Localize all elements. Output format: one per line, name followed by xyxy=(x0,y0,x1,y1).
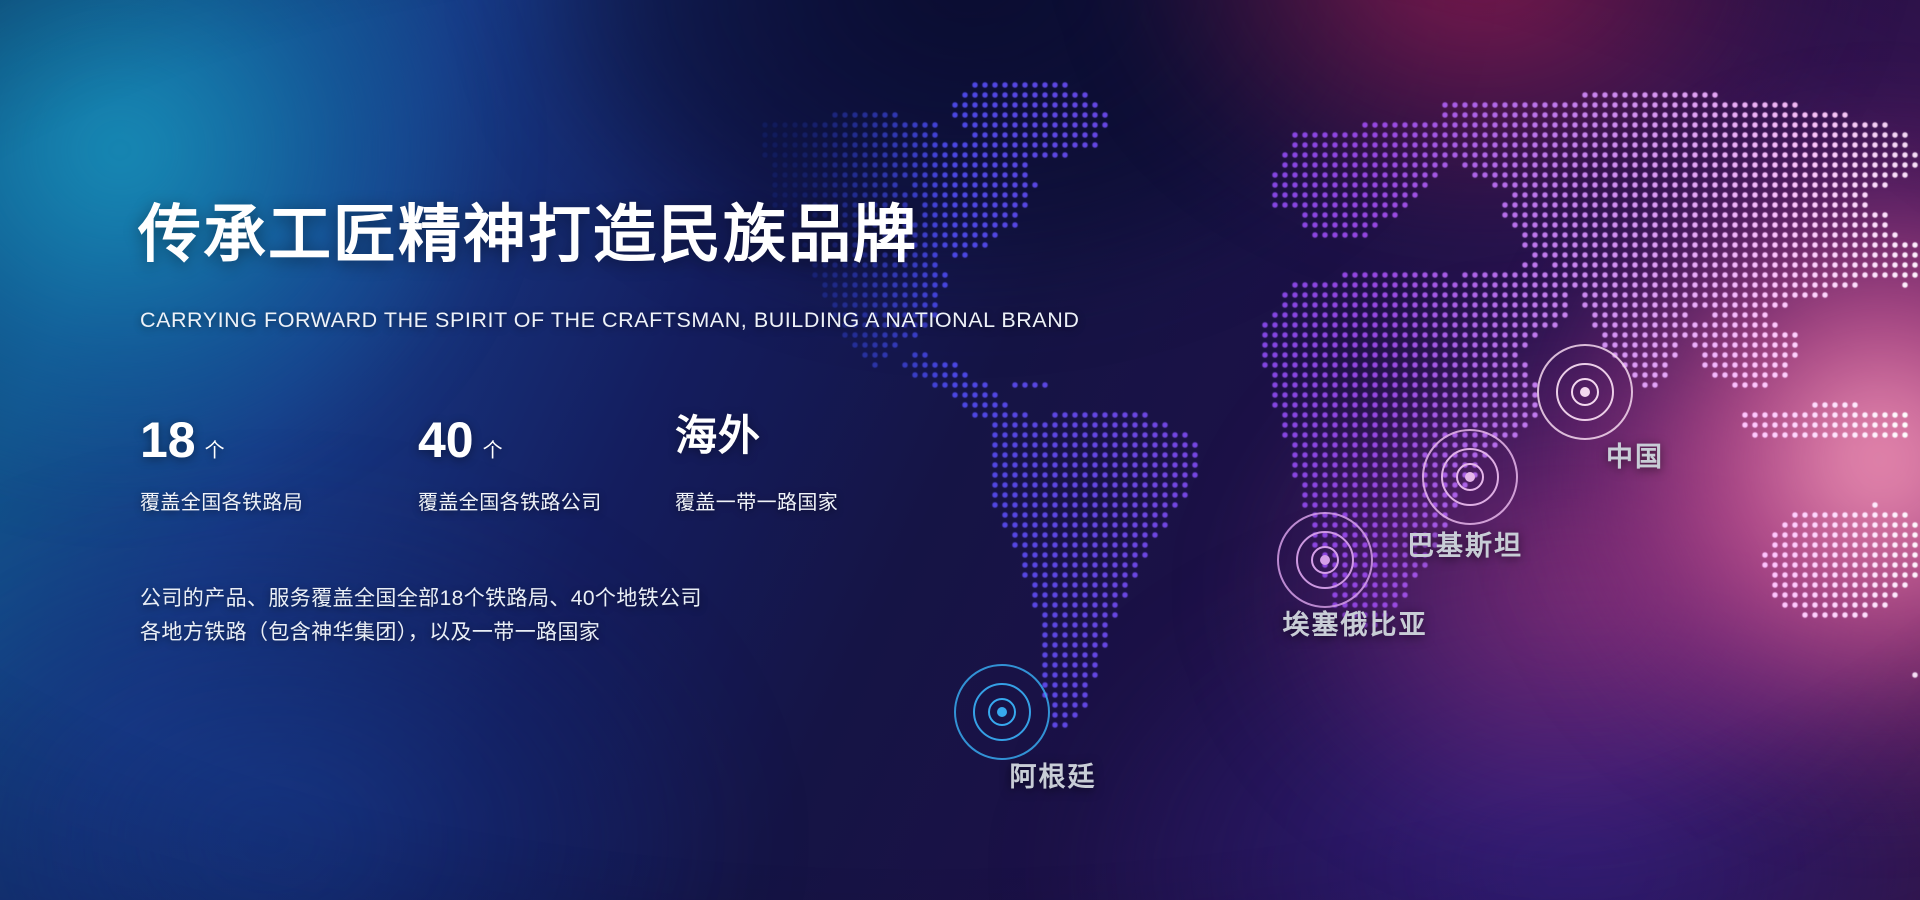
content-block: 传承工匠精神打造民族品牌 CARRYING FORWARD THE SPIRIT… xyxy=(138,0,1018,900)
stat-item: 海外覆盖一带一路国家 xyxy=(675,415,838,515)
banner-stage: 中国巴基斯坦埃塞俄比亚阿根廷 传承工匠精神打造民族品牌 CARRYING FOR… xyxy=(0,0,1920,900)
description-line-1: 公司的产品、服务覆盖全国全部18个铁路局、40个地铁公司 xyxy=(140,582,702,616)
stat-unit: 个 xyxy=(205,434,225,463)
stat-value: 海外 xyxy=(675,415,761,457)
stat-item: 18个覆盖全国各铁路局 xyxy=(140,415,303,515)
stat-description: 覆盖全国各铁路公司 xyxy=(418,486,602,515)
stat-value: 40 xyxy=(418,415,474,465)
stat-value-row: 40个 xyxy=(418,415,602,473)
stats-group: 18个覆盖全国各铁路局40个覆盖全国各铁路公司海外覆盖一带一路国家 xyxy=(140,415,860,510)
description-line-2: 各地方铁路（包含神华集团），以及一带一路国家 xyxy=(140,616,702,650)
description-text: 公司的产品、服务覆盖全国全部18个铁路局、40个地铁公司 各地方铁路（包含神华集… xyxy=(140,582,702,650)
stat-value: 18 xyxy=(140,415,196,465)
page-subtitle: CARRYING FORWARD THE SPIRIT OF THE CRAFT… xyxy=(140,308,1079,333)
stat-description: 覆盖一带一路国家 xyxy=(675,486,838,515)
stat-value-row: 18个 xyxy=(140,415,303,473)
stat-description: 覆盖全国各铁路局 xyxy=(140,486,303,515)
stat-unit: 个 xyxy=(483,434,503,463)
page-title: 传承工匠精神打造民族品牌 xyxy=(138,204,918,267)
stat-value-row: 海外 xyxy=(675,415,838,473)
stat-item: 40个覆盖全国各铁路公司 xyxy=(418,415,602,515)
